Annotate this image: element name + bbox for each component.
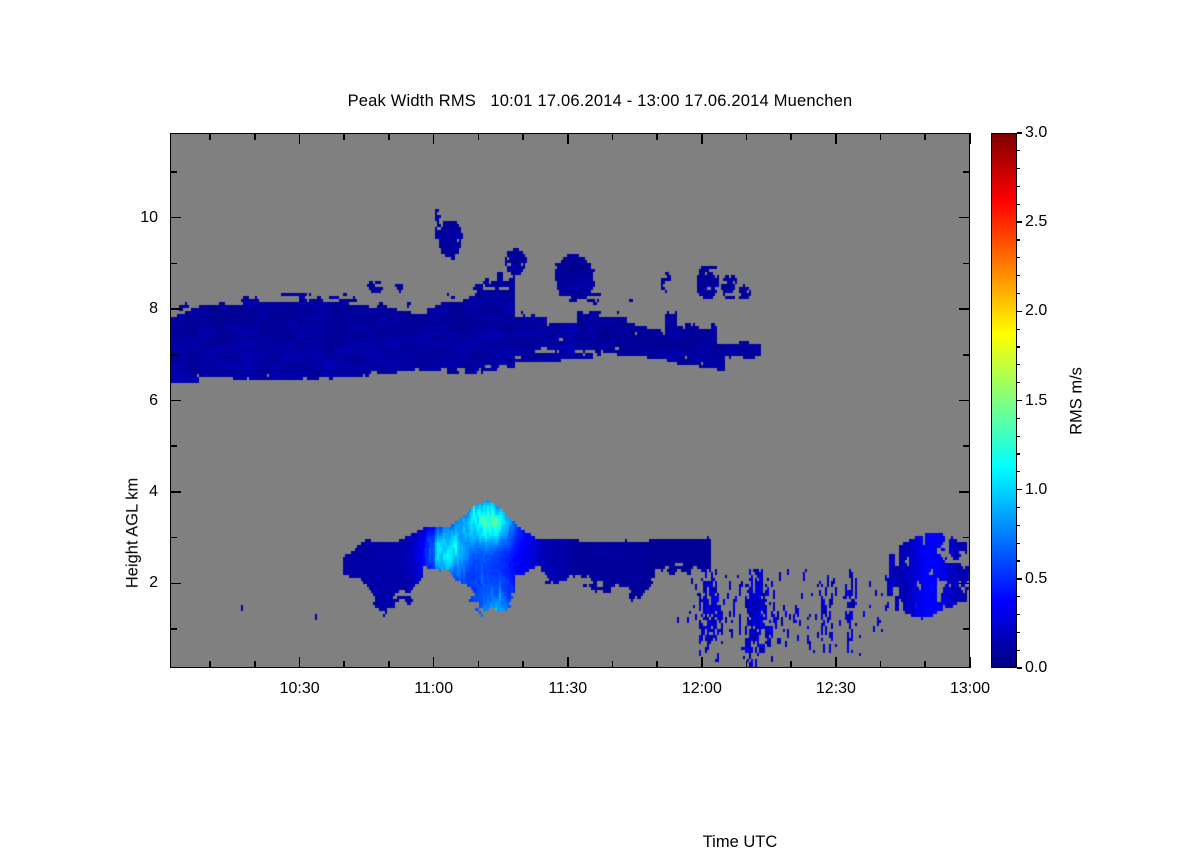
y-tick (170, 263, 177, 265)
colorbar-tick (1017, 667, 1022, 668)
page-title: Peak Width RMS 10:01 17.06.2014 - 13:00 … (0, 92, 1200, 111)
y-tick (170, 583, 181, 585)
x-tick-label: 12:30 (791, 680, 881, 698)
colorbar: 0.00.51.01.52.02.53.0 RMS m/s (991, 133, 1017, 668)
x-tick (567, 657, 569, 668)
x-axis-title: Time UTC (703, 833, 778, 852)
x-tick-top (209, 133, 211, 140)
x-tick-top (880, 133, 882, 140)
colorbar-minor-tick (1017, 382, 1020, 383)
colorbar-minor-tick (1017, 418, 1020, 419)
colorbar-tick (1017, 132, 1022, 133)
y-tick-label: 6 (98, 392, 158, 410)
colorbar-title: RMS m/s (1068, 367, 1087, 435)
x-tick (299, 657, 301, 668)
colorbar-tick-label: 1.0 (1025, 481, 1047, 499)
colorbar-tick (1017, 221, 1022, 222)
x-tick-label: 10:30 (255, 680, 345, 698)
x-tick-top (478, 133, 480, 140)
y-tick-right (963, 445, 970, 447)
x-tick (880, 661, 882, 668)
x-tick-top (388, 133, 390, 140)
colorbar-minor-tick (1017, 204, 1020, 205)
colorbar-minor-tick (1017, 364, 1020, 365)
y-tick-label: 10 (98, 209, 158, 227)
y-tick-right (963, 537, 970, 539)
y-tick (170, 354, 177, 356)
x-tick-top (433, 133, 435, 144)
x-tick-label: 12:00 (657, 680, 747, 698)
x-tick-top (343, 133, 345, 140)
colorbar-minor-tick (1017, 543, 1020, 544)
x-tick-top (612, 133, 614, 140)
x-tick (254, 661, 256, 668)
colorbar-minor-tick (1017, 346, 1020, 347)
colorbar-tick-label: 3.0 (1025, 124, 1047, 142)
x-tick (388, 661, 390, 668)
colorbar-minor-tick (1017, 596, 1020, 597)
x-tick-label: 13:00 (925, 680, 1015, 698)
colorbar-gradient (991, 133, 1017, 668)
colorbar-tick-label: 0.0 (1025, 659, 1047, 677)
x-tick-top (522, 133, 524, 140)
y-tick (170, 537, 177, 539)
x-tick (701, 657, 703, 668)
colorbar-tick-label: 1.5 (1025, 392, 1047, 410)
y-tick-right (959, 217, 970, 219)
x-tick-top (567, 133, 569, 144)
colorbar-tick (1017, 400, 1022, 401)
x-tick (656, 661, 658, 668)
x-tick (522, 661, 524, 668)
colorbar-tick (1017, 578, 1022, 579)
x-tick-top (656, 133, 658, 140)
x-tick (746, 661, 748, 668)
colorbar-minor-tick (1017, 507, 1020, 508)
colorbar-tick (1017, 489, 1022, 490)
y-tick (170, 171, 177, 173)
colorbar-tick (1017, 311, 1022, 312)
colorbar-minor-tick (1017, 257, 1020, 258)
y-tick (170, 491, 181, 493)
x-tick-top (924, 133, 926, 140)
colorbar-tick-label: 0.5 (1025, 570, 1047, 588)
x-tick (969, 657, 971, 668)
colorbar-minor-tick (1017, 239, 1020, 240)
x-tick (343, 661, 345, 668)
y-axis-title: Height AGL km (124, 478, 143, 588)
y-tick-right (963, 171, 970, 173)
plot-area (170, 133, 970, 668)
colorbar-minor-tick (1017, 453, 1020, 454)
y-tick-right (963, 354, 970, 356)
colorbar-minor-tick (1017, 560, 1020, 561)
y-tick-label: 8 (98, 300, 158, 318)
x-tick-top (701, 133, 703, 144)
colorbar-minor-tick (1017, 150, 1020, 151)
x-tick-top (835, 133, 837, 144)
heatmap-data-layer (171, 134, 970, 668)
colorbar-minor-tick (1017, 525, 1020, 526)
y-tick-right (959, 491, 970, 493)
y-tick (170, 628, 177, 630)
y-tick-right (959, 583, 970, 585)
x-tick (209, 661, 211, 668)
colorbar-minor-tick (1017, 471, 1020, 472)
figure-canvas: Peak Width RMS 10:01 17.06.2014 - 13:00 … (0, 0, 1200, 800)
x-tick-top (790, 133, 792, 140)
x-tick (790, 661, 792, 668)
x-tick-label: 11:30 (523, 680, 613, 698)
x-tick (612, 661, 614, 668)
colorbar-minor-tick (1017, 275, 1020, 276)
colorbar-minor-tick (1017, 329, 1020, 330)
x-tick (924, 661, 926, 668)
y-tick-right (963, 263, 970, 265)
x-tick-top (969, 133, 971, 144)
y-tick-right (959, 400, 970, 402)
y-tick (170, 445, 177, 447)
x-tick (478, 661, 480, 668)
colorbar-tick-label: 2.5 (1025, 213, 1047, 231)
colorbar-minor-tick (1017, 436, 1020, 437)
colorbar-tick-label: 2.0 (1025, 302, 1047, 320)
x-tick-label: 11:00 (389, 680, 479, 698)
y-tick-right (963, 628, 970, 630)
colorbar-minor-tick (1017, 186, 1020, 187)
y-tick (170, 308, 181, 310)
colorbar-minor-tick (1017, 168, 1020, 169)
x-tick-top (299, 133, 301, 144)
x-tick (433, 657, 435, 668)
y-tick-right (959, 308, 970, 310)
colorbar-minor-tick (1017, 293, 1020, 294)
x-tick-top (254, 133, 256, 140)
x-tick-top (746, 133, 748, 140)
colorbar-minor-tick (1017, 614, 1020, 615)
x-tick (835, 657, 837, 668)
y-tick (170, 400, 181, 402)
colorbar-minor-tick (1017, 632, 1020, 633)
y-tick (170, 217, 181, 219)
colorbar-minor-tick (1017, 650, 1020, 651)
